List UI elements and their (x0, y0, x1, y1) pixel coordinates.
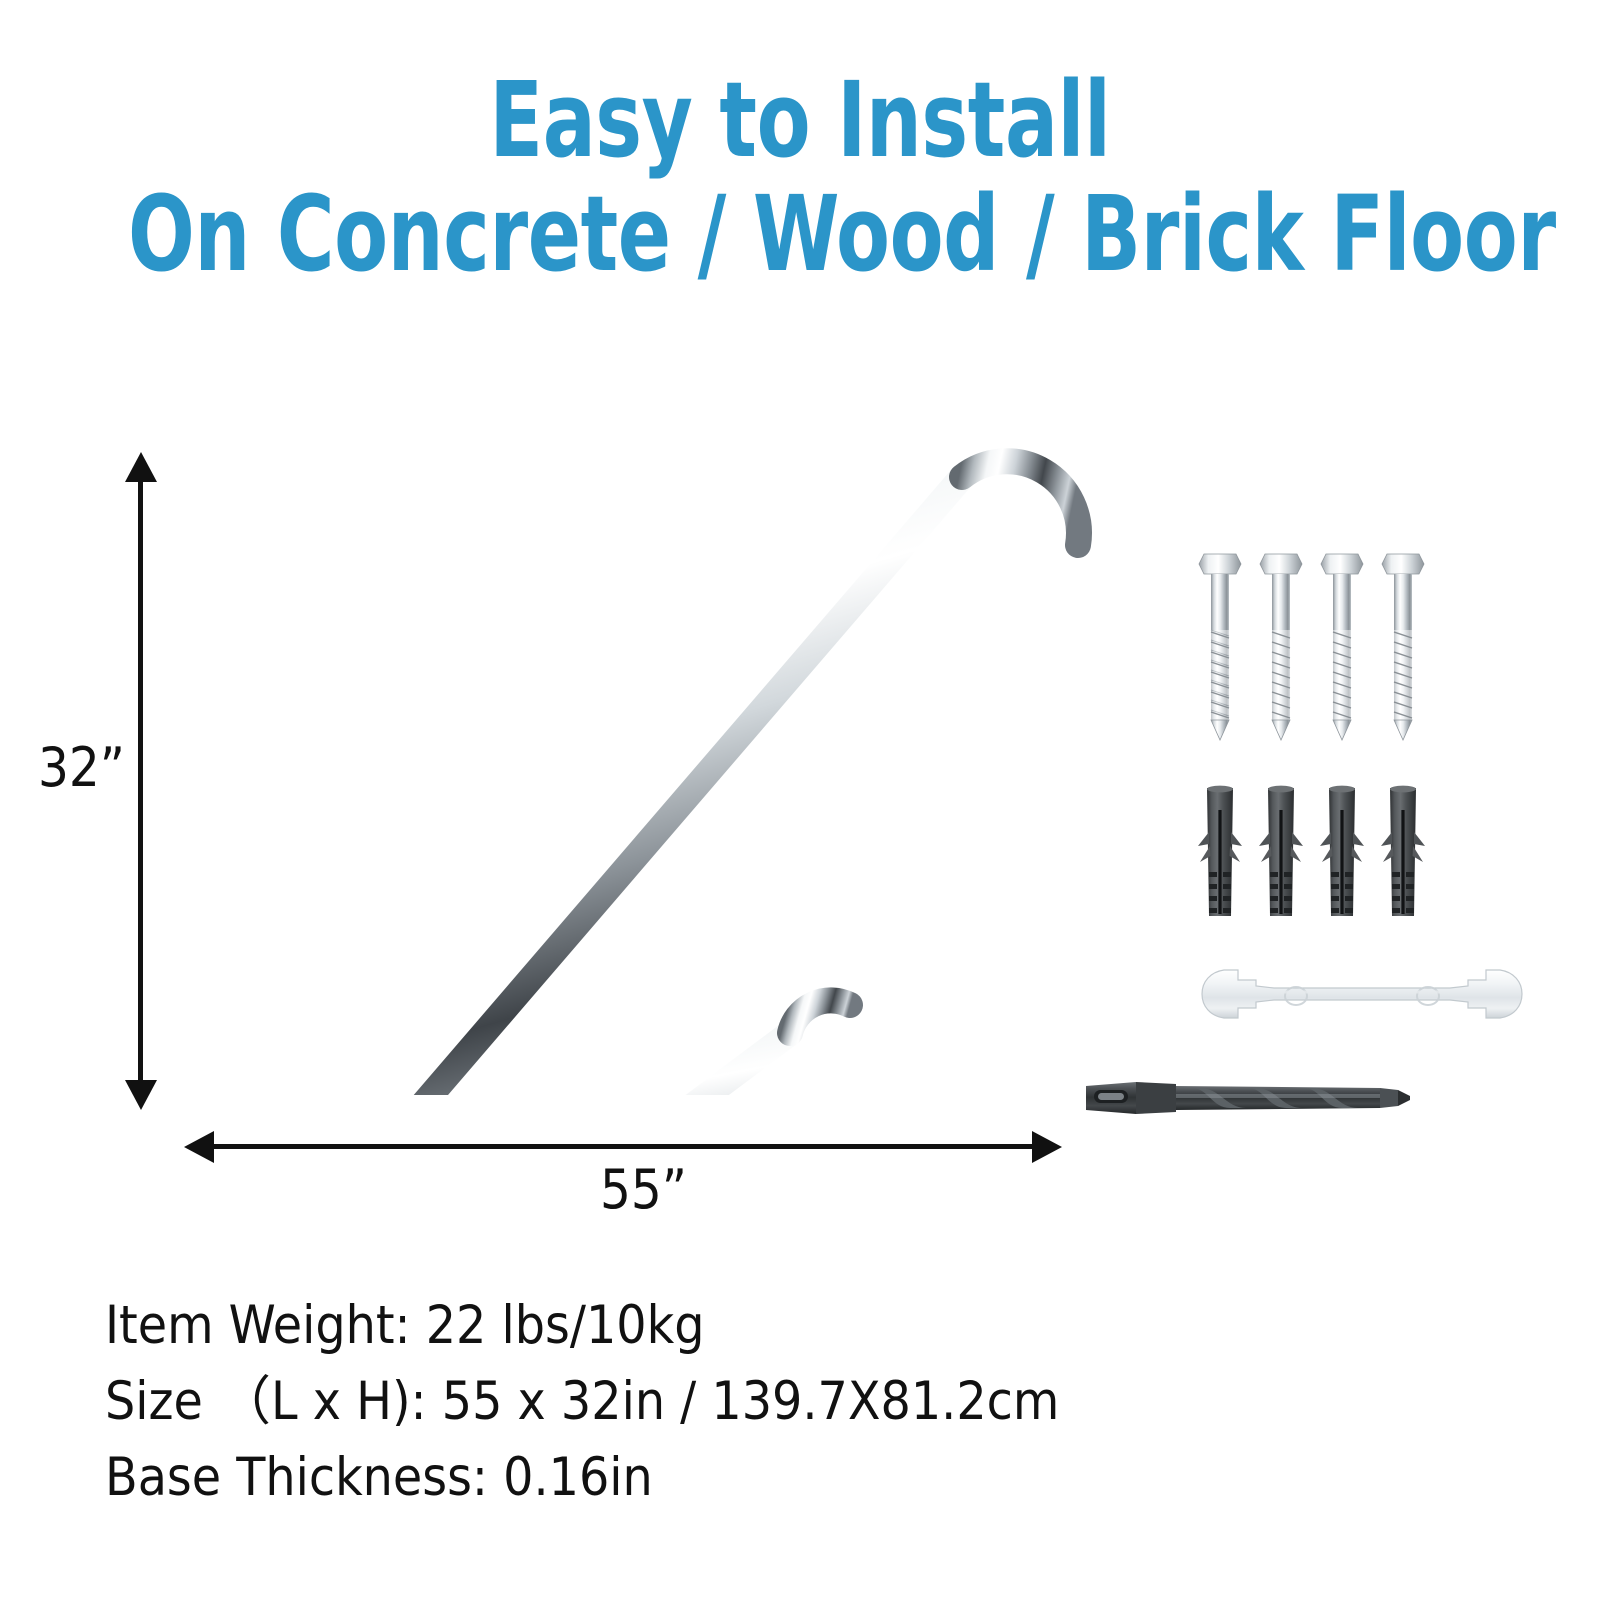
wall-anchor-group (1198, 786, 1425, 916)
product-illustration (150, 425, 1110, 1100)
spec-list: Item Weight: 22 lbs/10kg Size （L x H): 5… (105, 1288, 1405, 1516)
headline-line-1: Easy to Install (128, 68, 1472, 172)
open-end-wrench (1202, 970, 1522, 1018)
spec-item-size: Size （L x H): 55 x 32in / 139.7X81.2cm (105, 1364, 1405, 1440)
product-infographic: Easy to Install On Concrete / Wood / Bri… (0, 0, 1600, 1600)
wall-anchor (1198, 786, 1242, 916)
accessories-svg (1060, 520, 1560, 1160)
headline-line-2: On Concrete / Wood / Brick Floor (128, 182, 1472, 286)
height-arrow-up-icon (125, 452, 157, 482)
wall-anchor (1381, 786, 1425, 916)
height-dimension-label: 32” (38, 736, 125, 799)
handrail-detail-svg (150, 425, 1110, 1095)
lag-screw (1382, 554, 1424, 740)
wall-anchor (1259, 786, 1303, 916)
width-dimension-label: 55” (600, 1158, 687, 1221)
width-dimension-line (212, 1144, 1036, 1149)
lag-screw (1260, 554, 1302, 740)
spec-item-thickness: Base Thickness: 0.16in (105, 1440, 1405, 1516)
height-arrow-down-icon (125, 1080, 157, 1110)
width-arrow-right-icon (1032, 1131, 1062, 1163)
wall-anchor (1320, 786, 1364, 916)
height-dimension-line (138, 478, 143, 1086)
spec-item-weight: Item Weight: 22 lbs/10kg (105, 1288, 1405, 1364)
lag-screw (1199, 554, 1241, 740)
masonry-drill-bit (1086, 1082, 1410, 1114)
width-arrow-left-icon (184, 1131, 214, 1163)
lag-screw-group (1199, 554, 1424, 740)
lag-screw (1321, 554, 1363, 740)
accessories-group (1060, 520, 1560, 1165)
